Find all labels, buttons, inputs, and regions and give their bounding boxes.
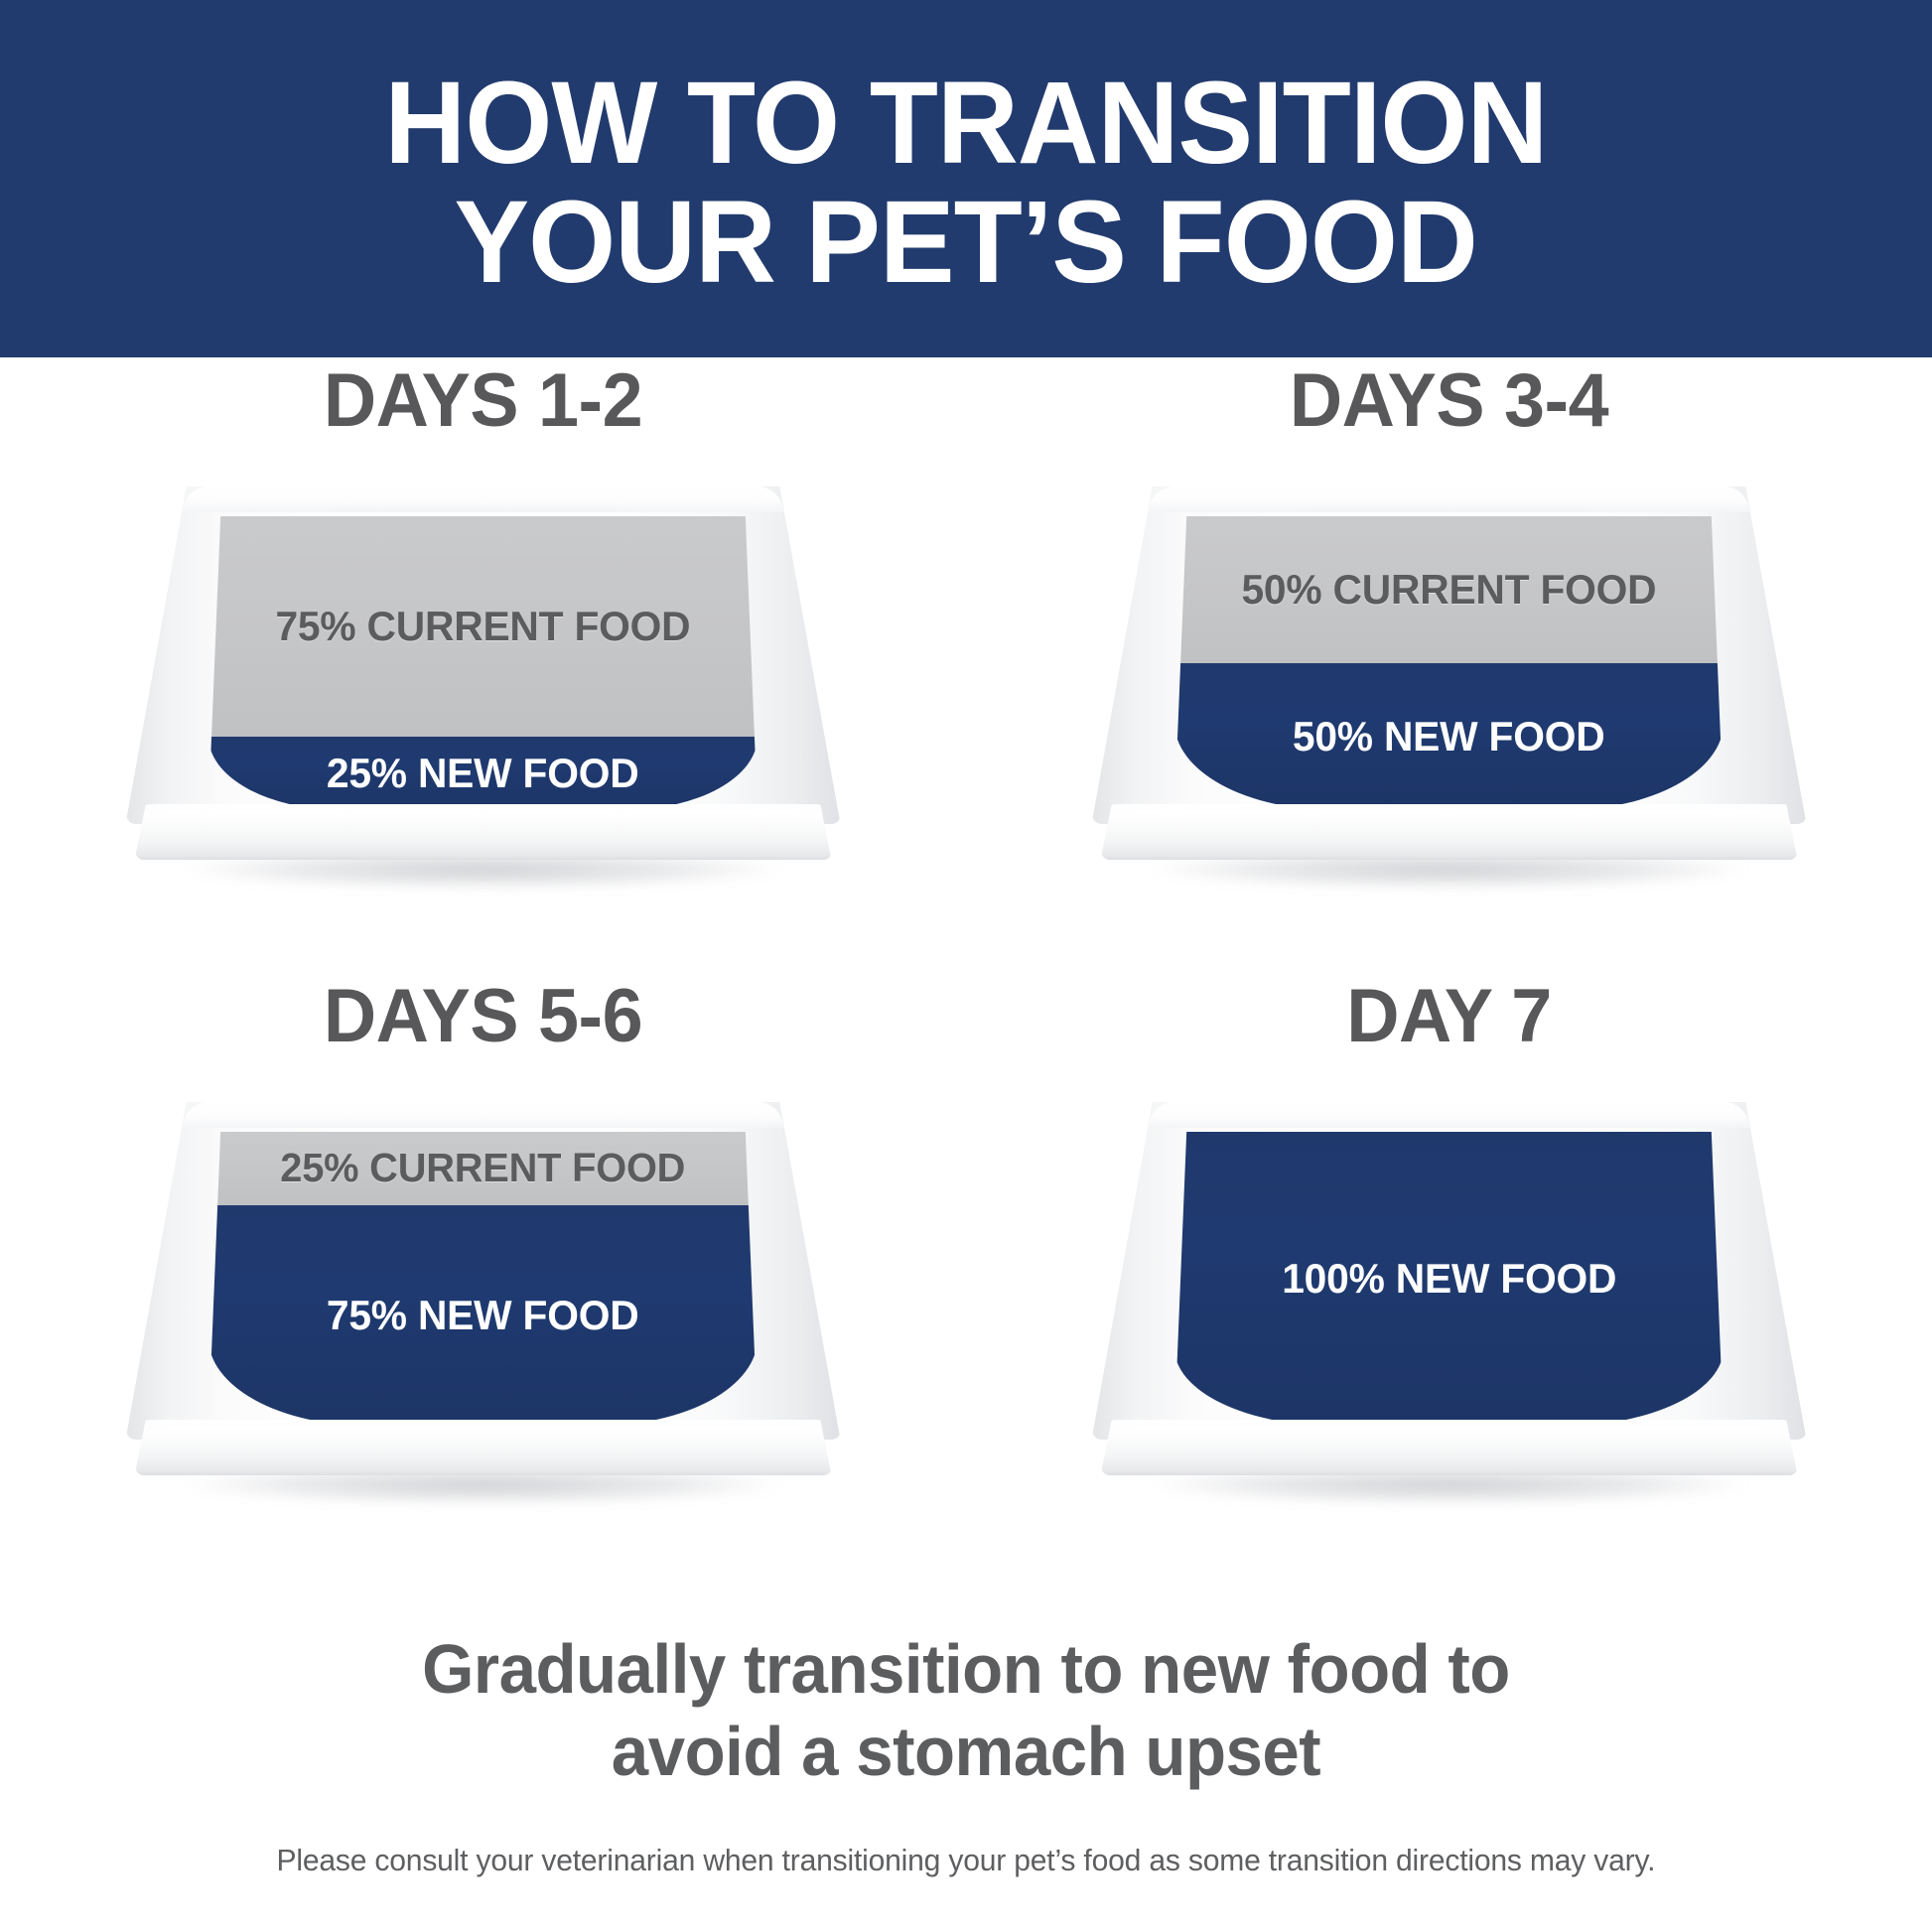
- current-food-fill: 25% CURRENT FOOD: [208, 1132, 758, 1205]
- bowl-inner-cavity: 100% NEW FOOD: [1174, 1132, 1724, 1426]
- step-4-new-food-label: 100% NEW FOOD: [1282, 1255, 1616, 1302]
- bowl-base-highlight: [1129, 810, 1770, 822]
- tagline: Gradually transition to new food to avoi…: [0, 1628, 1932, 1792]
- bowl-base: [1101, 804, 1798, 860]
- step-2-new-food-label: 50% NEW FOOD: [1293, 713, 1605, 759]
- step-2-current-food-label: 50% CURRENT FOOD: [1242, 566, 1657, 613]
- step-3-bowl: 25% CURRENT FOOD 75% NEW FOOD: [126, 1102, 841, 1499]
- step-1-new-food-label: 25% NEW FOOD: [327, 750, 639, 796]
- current-food-fill: 75% CURRENT FOOD: [208, 516, 758, 737]
- current-food-fill: 50% CURRENT FOOD: [1174, 516, 1724, 663]
- new-food-fill: 25% NEW FOOD: [208, 737, 758, 810]
- step-4-day-label: DAY 7: [981, 973, 1918, 1059]
- bowl-rim: [1149, 486, 1749, 512]
- transition-steps-grid: DAYS 1-2 75% CURRENT FOOD 25% NEW FOOD: [0, 357, 1932, 1588]
- disclaimer: Please consult your veterinarian when tr…: [0, 1843, 1932, 1878]
- bowl-base-highlight: [163, 810, 804, 822]
- disclaimer-text: Please consult your veterinarian when tr…: [277, 1843, 1656, 1878]
- step-3-new-food-label: 75% NEW FOOD: [327, 1292, 639, 1338]
- bowl-drop-shadow: [1152, 1471, 1747, 1505]
- tagline-line-1: Gradually transition to new food to: [39, 1628, 1893, 1711]
- step-2-day-label: DAYS 3-4: [981, 357, 1918, 444]
- transition-step-2: DAYS 3-4 50% CURRENT FOOD 50% NEW FOOD: [966, 357, 1932, 973]
- step-1-current-food-label: 75% CURRENT FOOD: [276, 603, 691, 649]
- bowl-rim: [1149, 1102, 1749, 1128]
- bowl-inner-cavity: 50% CURRENT FOOD 50% NEW FOOD: [1174, 516, 1724, 810]
- bowl-drop-shadow: [186, 856, 781, 890]
- tagline-line-2: avoid a stomach upset: [39, 1711, 1893, 1793]
- transition-step-4: DAY 7 100% NEW FOOD: [966, 973, 1932, 1588]
- step-4-bowl: 100% NEW FOOD: [1092, 1102, 1807, 1499]
- step-3-current-food-label: 25% CURRENT FOOD: [281, 1146, 686, 1191]
- page-title-line-1: HOW TO TRANSITION: [385, 64, 1548, 183]
- bowl-inner-cavity: 75% CURRENT FOOD 25% NEW FOOD: [208, 516, 758, 810]
- page-title-line-2: YOUR PET’S FOOD: [455, 183, 1477, 302]
- new-food-fill: 75% NEW FOOD: [208, 1205, 758, 1426]
- transition-step-1: DAYS 1-2 75% CURRENT FOOD 25% NEW FOOD: [0, 357, 966, 973]
- bowl-base: [1101, 1420, 1798, 1475]
- step-1-bowl: 75% CURRENT FOOD 25% NEW FOOD: [126, 486, 841, 884]
- transition-step-3: DAYS 5-6 25% CURRENT FOOD 75% NEW FOOD: [0, 973, 966, 1588]
- bowl-inner-cavity: 25% CURRENT FOOD 75% NEW FOOD: [208, 1132, 758, 1426]
- step-2-bowl: 50% CURRENT FOOD 50% NEW FOOD: [1092, 486, 1807, 884]
- step-1-day-label: DAYS 1-2: [15, 357, 952, 444]
- bowl-base: [135, 1420, 832, 1475]
- step-3-day-label: DAYS 5-6: [15, 973, 952, 1059]
- new-food-fill: 50% NEW FOOD: [1174, 663, 1724, 810]
- bowl-base-highlight: [1129, 1426, 1770, 1438]
- header-banner: HOW TO TRANSITION YOUR PET’S FOOD: [0, 0, 1932, 357]
- bowl-base-highlight: [163, 1426, 804, 1438]
- bowl-base: [135, 804, 832, 860]
- bowl-rim: [183, 1102, 783, 1128]
- bowl-drop-shadow: [186, 1471, 781, 1505]
- new-food-fill: 100% NEW FOOD: [1174, 1132, 1724, 1426]
- bowl-drop-shadow: [1152, 856, 1747, 890]
- bowl-rim: [183, 486, 783, 512]
